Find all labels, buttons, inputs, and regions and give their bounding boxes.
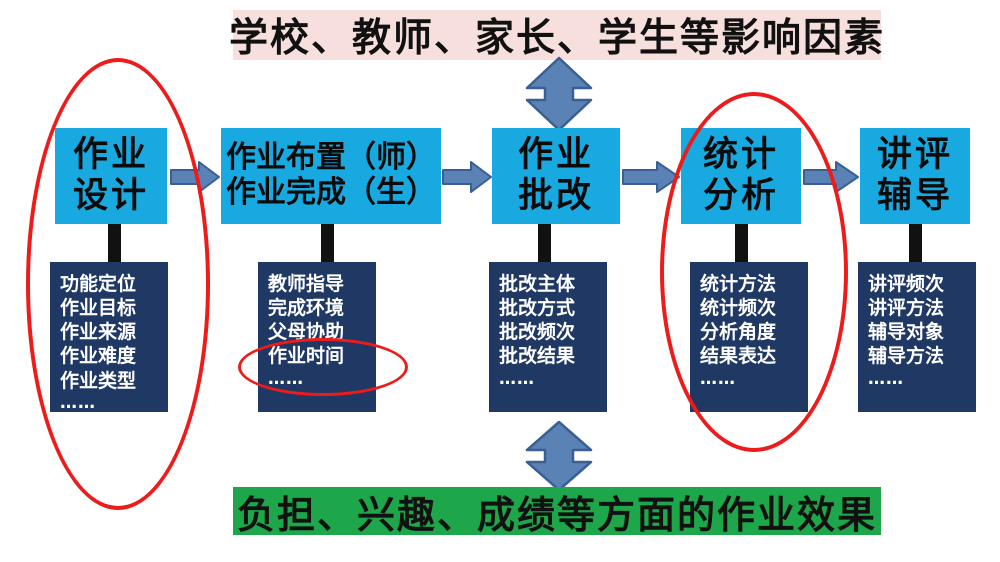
connector-stem-3 (538, 224, 551, 266)
detail-item: 讲评频次 (868, 272, 976, 296)
detail-list-zuoye-pigai: 批改主体 批改方式 批改频次 批改结果 …… (489, 262, 607, 412)
detail-item: 辅导方法 (868, 344, 976, 368)
stage-box-line: 辅导 (877, 176, 953, 217)
influence-factors-banner: 学校、教师、家长、学生等影响因素 (233, 10, 881, 60)
detail-item: 功能定位 (60, 272, 168, 296)
flow-arrow-right-1 (169, 160, 221, 194)
detail-item: 批改结果 (499, 344, 607, 368)
detail-item: 作业目标 (60, 296, 168, 320)
detail-item: 批改主体 (499, 272, 607, 296)
stage-box-line: 作业布置（师） (226, 141, 436, 176)
detail-item-ellipsis: …… (60, 393, 168, 415)
detail-item: 批改频次 (499, 320, 607, 344)
detail-list-tongji-fenxi: 统计方法 统计频次 分析角度 结果表达 …… (690, 262, 808, 412)
detail-item: 分析角度 (700, 320, 808, 344)
connector-stem-1 (108, 224, 121, 266)
stage-box-zuoye-buzhi-wancheng[interactable]: 作业布置（师） 作业完成（生） (221, 128, 441, 224)
detail-list-zuoye-buzhi-wancheng: 教师指导 完成环境 父母协助 作业时间 …… (258, 262, 376, 412)
stage-box-line: 批改 (518, 176, 594, 217)
detail-list-jiangping-fudao: 讲评频次 讲评方法 辅导对象 辅导方法 …… (858, 262, 976, 412)
flow-arrow-right-2 (441, 160, 493, 194)
flow-arrow-right-4 (802, 160, 860, 194)
detail-item: 父母协助 (268, 320, 376, 344)
detail-item: 辅导对象 (868, 320, 976, 344)
stage-box-jiangping-fudao[interactable]: 讲评 辅导 (860, 128, 970, 224)
stage-box-tongji-fenxi[interactable]: 统计 分析 (681, 128, 801, 224)
flow-arrow-right-3 (621, 160, 681, 194)
stage-box-zuoye-sheji[interactable]: 作业 设计 (55, 128, 167, 224)
detail-item: 作业来源 (60, 320, 168, 344)
homework-effect-banner: 负担、兴趣、成绩等方面的作业效果 (233, 487, 881, 535)
double-arrow-up-down-top (523, 56, 595, 132)
stage-box-line: 作业完成（生） (226, 176, 436, 211)
stage-box-line: 讲评 (877, 135, 953, 176)
detail-list-zuoye-sheji: 功能定位 作业目标 作业来源 作业难度 作业类型 …… (50, 262, 168, 412)
detail-item-ellipsis: …… (499, 369, 607, 391)
detail-item: 统计频次 (700, 296, 808, 320)
detail-item-ellipsis: …… (700, 369, 808, 391)
detail-item-ellipsis: …… (868, 369, 976, 391)
connector-stem-2 (321, 224, 334, 266)
diagram-canvas: 学校、教师、家长、学生等影响因素 作业 设计 作业布置（师） 作业完成（生） 作… (0, 0, 1000, 562)
double-arrow-up-down-bottom (523, 420, 595, 492)
detail-item: 作业类型 (60, 369, 168, 393)
detail-item: 作业难度 (60, 344, 168, 368)
stage-box-line: 分析 (703, 176, 779, 217)
detail-item-homework-time: 作业时间 (268, 344, 376, 368)
connector-stem-4 (735, 224, 748, 266)
detail-item: 教师指导 (268, 272, 376, 296)
detail-item: 完成环境 (268, 296, 376, 320)
stage-box-zuoye-pigai[interactable]: 作业 批改 (492, 128, 620, 224)
detail-item-ellipsis: …… (268, 369, 376, 391)
detail-item: 批改方式 (499, 296, 607, 320)
connector-stem-5 (909, 224, 922, 266)
detail-item: 讲评方法 (868, 296, 976, 320)
stage-box-line: 作业 (73, 135, 149, 176)
stage-box-line: 作业 (518, 135, 594, 176)
detail-item: 统计方法 (700, 272, 808, 296)
stage-box-line: 统计 (703, 135, 779, 176)
detail-item: 结果表达 (700, 344, 808, 368)
stage-box-line: 设计 (73, 176, 149, 217)
